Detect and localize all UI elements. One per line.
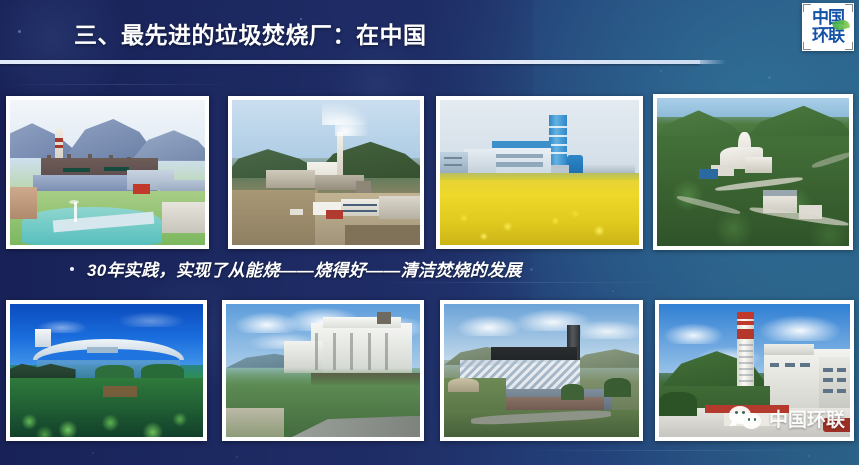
photo-plant-smoking-stack [232,100,420,245]
page-title: 三、最先进的垃圾焚烧厂：在中国 [74,16,427,50]
gallery-photo[interactable] [6,300,207,441]
photo-mountain-aerial-plant [657,98,849,246]
presentation-slide: 三、最先进的垃圾焚烧厂：在中国 中国 环联 [0,0,859,465]
photo-waste-plant-fountain-park [10,100,205,245]
bullet-dot-icon [70,267,74,271]
gallery-photo[interactable] [436,96,643,249]
gallery-photo[interactable] [440,300,643,441]
gallery-photo[interactable] [653,94,853,250]
photo-white-terraced-complex [226,304,420,437]
brand-logo[interactable]: 中国 环联 [802,3,854,51]
bullet-text: 30年实践，实现了从能烧——烧得好——清洁焚烧的发展 [87,256,522,281]
photo-lotus-pond-arch-building [10,304,203,437]
photo-red-white-stack-plant [659,304,850,437]
title-divider [0,60,700,64]
gallery-photo[interactable] [228,96,424,249]
title-divider-tail [700,60,726,64]
gallery-photo[interactable] [6,96,209,249]
gallery-photo[interactable] [222,300,424,441]
photo-modern-dark-facade-plant [444,304,639,437]
bullet-line: 30年实践，实现了从能烧——烧得好——清洁焚烧的发展 [70,256,522,281]
gallery-photo[interactable] [655,300,854,441]
photo-plant-rapeseed-field [440,100,639,245]
